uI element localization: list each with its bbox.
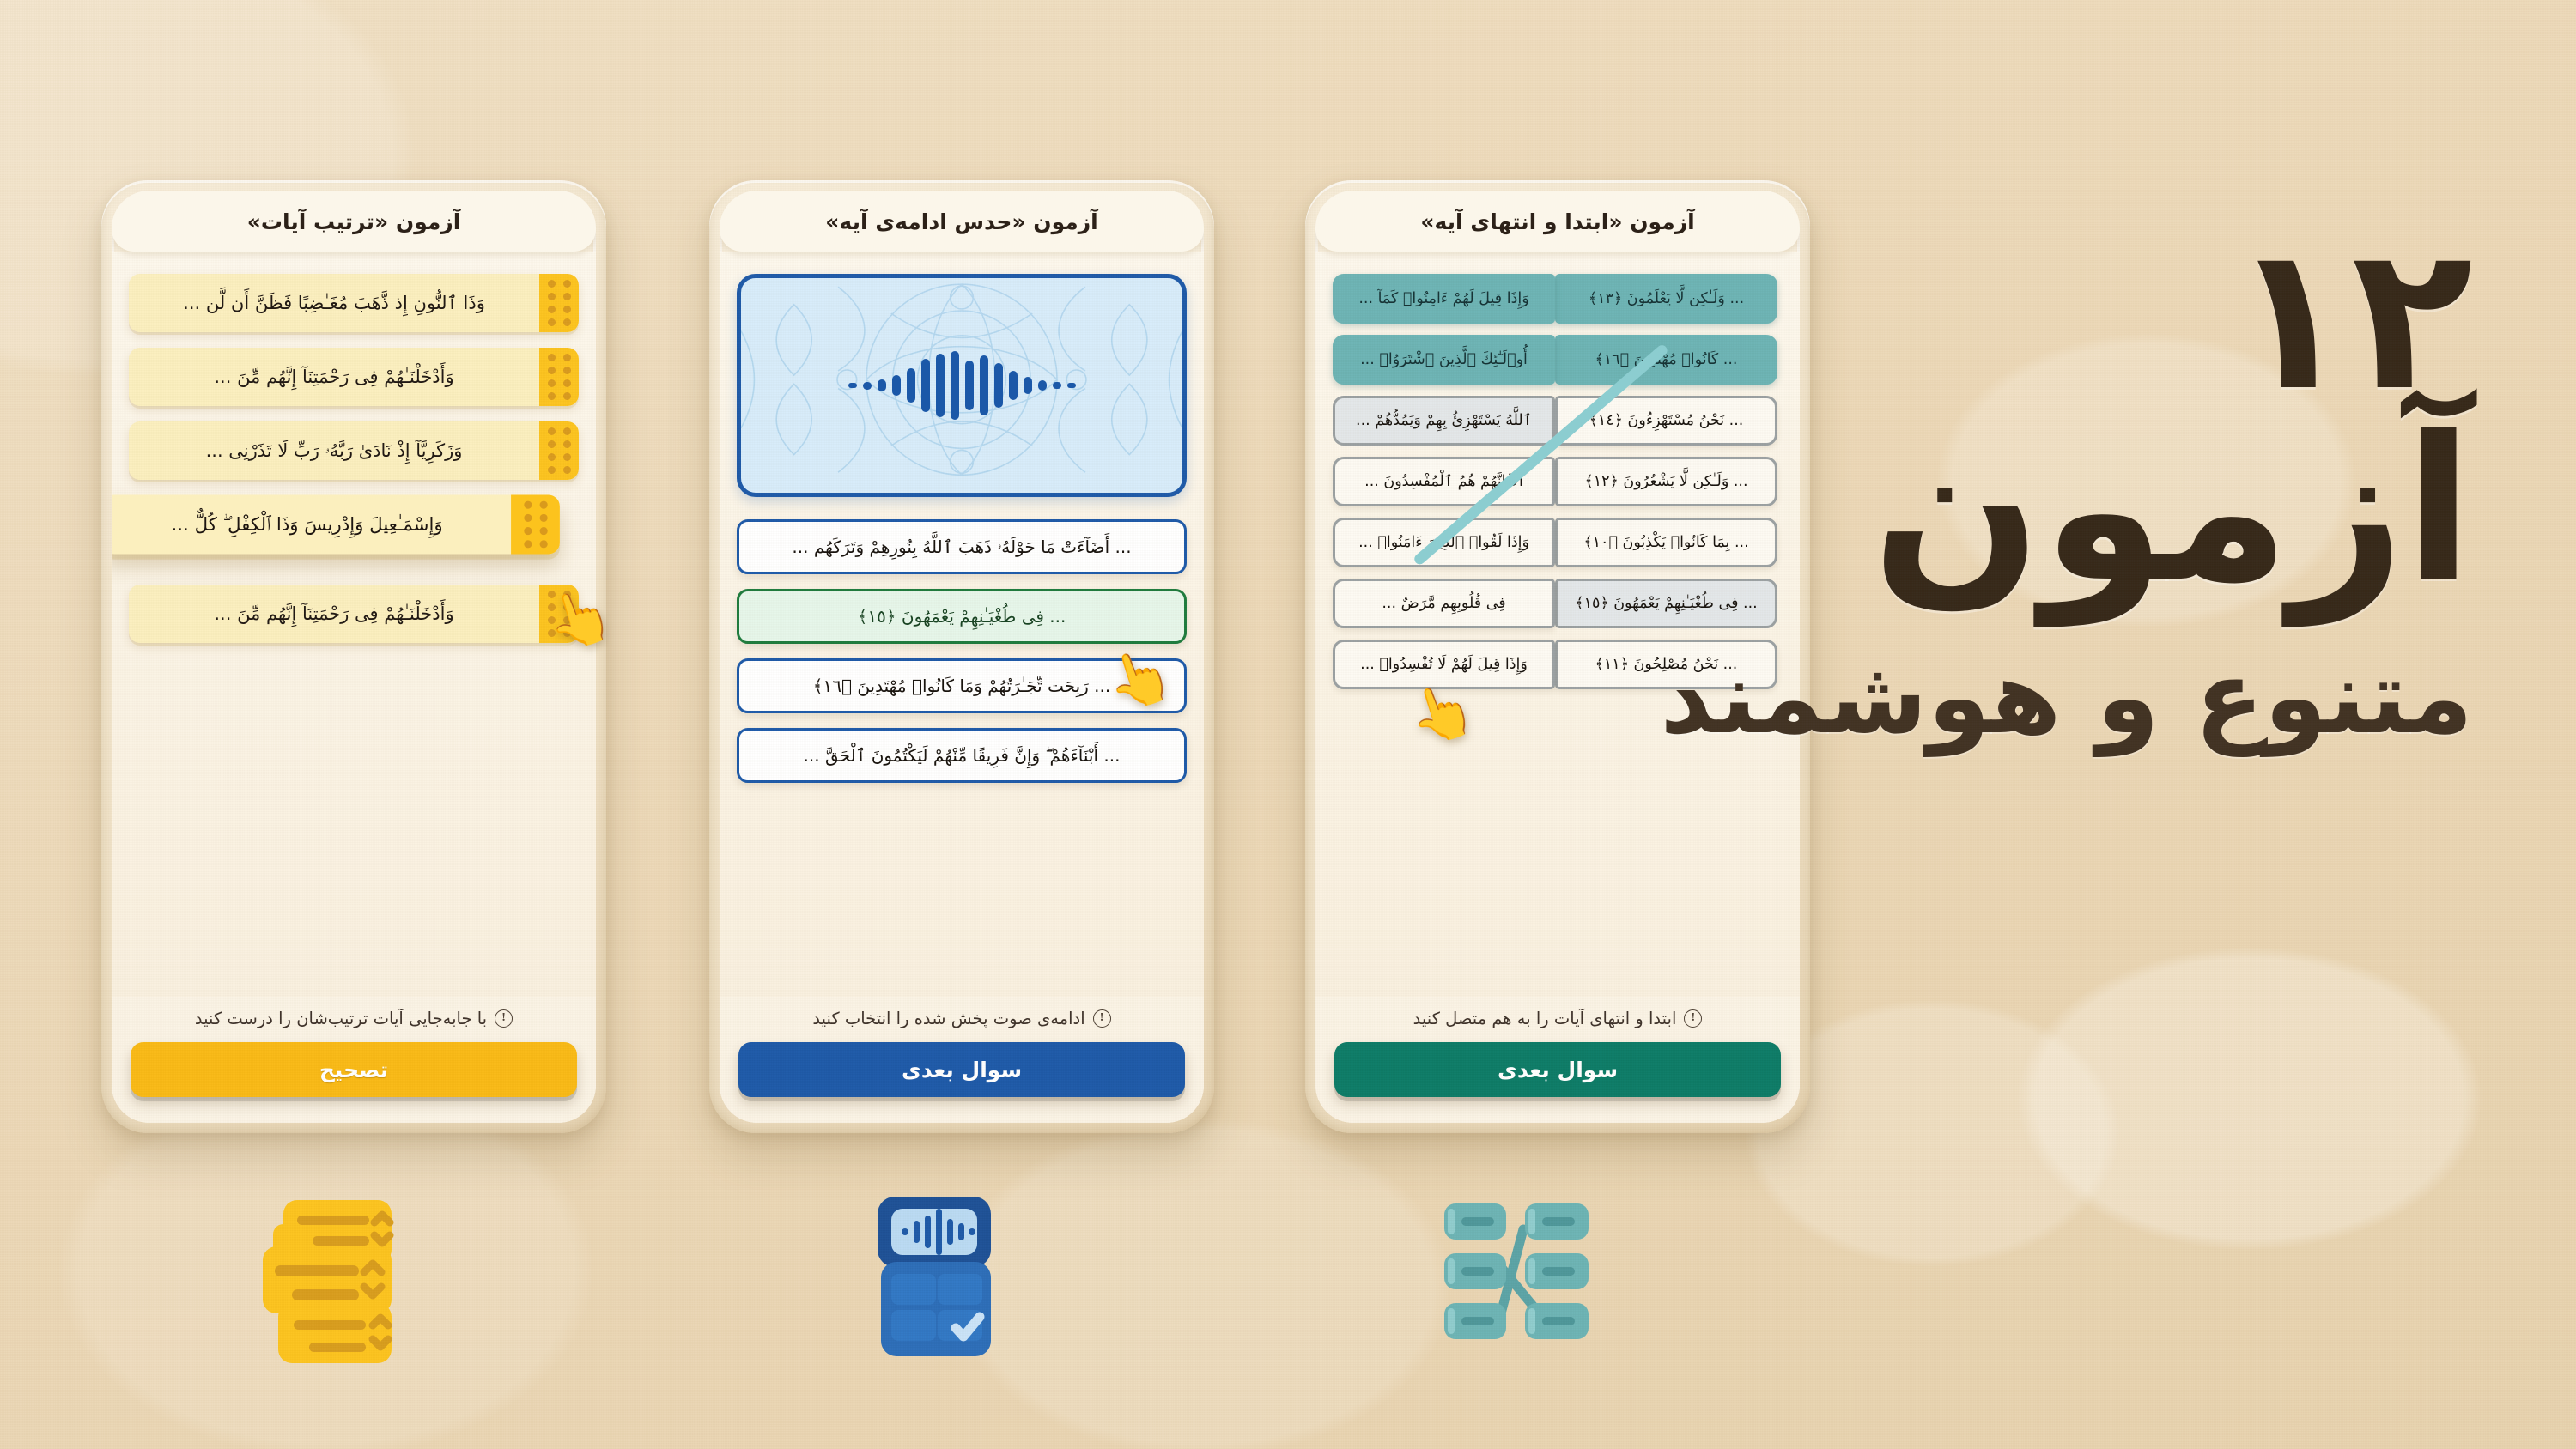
option-text: ... رَبِحَت تِّجَـٰرَتُهُمْ وَمَا كَانُو… [813,676,1110,696]
hint-reorder: ! با جابه‌جایی آیات ترتیب‌شان را درست کن… [131,997,577,1042]
answer-option-selected[interactable]: ... فِى طُغْيَـٰنِهِمْ يَعْمَهُونَ ﴿١٥﴾ [737,589,1187,644]
screen-footer-audio: ! ادامه‌ی صوت پخش شده را انتخاب کنید سوا… [720,997,1204,1123]
drag-handle-icon[interactable] [539,348,579,406]
drop-gap [129,569,579,585]
hint-audio: ! ادامه‌ی صوت پخش شده را انتخاب کنید [738,997,1185,1042]
screen-title-reorder: آزمون «ترتیب آیات» [124,209,584,234]
verse-start-chip[interactable]: وَإِذَا لَقُوا۟ ٱلَّذِينَ ءَامَنُوا۟ ... [1333,518,1555,567]
hint-text: با جابه‌جایی آیات ترتیب‌شان را درست کنید [195,1009,487,1028]
submit-correction-button[interactable]: تصحیح [131,1042,577,1097]
next-question-button-match[interactable]: سوال بعدی [1334,1042,1781,1097]
drag-handle-icon[interactable] [539,274,579,332]
verse-row[interactable]: وَأَدْخَلْنَـٰهُمْ فِى رَحْمَتِنَآ إِنَّ… [129,585,579,643]
verse-text: وَأَدْخَلْنَـٰهُمْ فِى رَحْمَتِنَآ إِنَّ… [129,348,539,406]
verse-text: وَزَكَرِيَّآ إِذْ نَادَىٰ رَبَّهُۥ رَبِّ… [129,421,539,480]
match-pairs-icon [1441,1195,1595,1367]
hint-match: ! ابتدا و انتهای آیات را به هم متصل کنید [1334,997,1781,1042]
verse-start-chip[interactable]: أُو۟لَـٰٓئِكَ ٱلَّذِينَ ٱشْتَرَوُا۟ ... [1333,335,1555,385]
option-text: ... أَضَآءَتْ مَا حَوْلَهُۥ ذَهَبَ ٱللَّ… [792,537,1131,557]
answer-option[interactable]: ... أَضَآءَتْ مَا حَوْلَهُۥ ذَهَبَ ٱللَّ… [737,519,1187,574]
verse-start-chip[interactable]: فِى قُلُوبِهِم مَّرَضٌ ... [1333,579,1555,628]
hint-text: ادامه‌ی صوت پخش شده را انتخاب کنید [812,1009,1084,1028]
audio-question-area: ... أَضَآءَتْ مَا حَوْلَهُۥ ذَهَبَ ٱللَّ… [720,252,1204,997]
verse-row-dragging[interactable]: وَإِسْمَـٰعِيلَ وَإِدْرِيسَ وَذَا ٱلْكِف… [112,494,560,554]
headline-sub: متنوع و هوشمند [1563,638,2473,756]
audio-player-panel[interactable] [737,274,1187,497]
verse-text: وَأَدْخَلْنَـٰهُمْ فِى رَحْمَتِنَآ إِنَّ… [129,585,539,643]
screen-header-reorder: آزمون «ترتیب آیات» [112,191,596,252]
verse-row[interactable]: وَزَكَرِيَّآ إِذْ نَادَىٰ رَبَّهُۥ رَبِّ… [129,421,579,480]
verse-row[interactable]: وَذَا ٱلنُّونِ إِذ ذَّهَبَ مُغَـٰضِبًا ف… [129,274,579,332]
drag-handle-icon[interactable] [511,494,560,554]
audio-waveform-icon [848,347,1076,424]
headline-block: ۱۲ آزمون متنوع و هوشمند [1563,223,2473,756]
verse-reorder-list: وَذَا ٱلنُّونِ إِذ ذَّهَبَ مُغَـٰضِبًا ف… [112,252,596,997]
hint-text: ابتدا و انتهای آیات را به هم متصل کنید [1413,1009,1677,1028]
verse-start-chip[interactable]: وَإِذَا قِيلَ لَهُمْ ءَامِنُوا۟ كَمَآ ..… [1333,274,1555,324]
screen-footer-match: ! ابتدا و انتهای آیات را به هم متصل کنید… [1315,997,1800,1123]
audio-quiz-icon [876,1195,1013,1367]
drag-handle-icon[interactable] [539,421,579,480]
screen-footer-reorder: ! با جابه‌جایی آیات ترتیب‌شان را درست کن… [112,997,596,1123]
option-text: ... أَبْنَآءَهُمْ ۖ وَإِنَّ فَرِيقًا مِّ… [804,745,1121,766]
verse-start-chip[interactable]: أَلَآ إِنَّهُمْ هُمُ ٱلْمُفْسِدُونَ ... [1333,457,1555,506]
verse-text: وَذَا ٱلنُّونِ إِذ ذَّهَبَ مُغَـٰضِبًا ف… [129,274,539,332]
info-icon: ! [1093,1009,1111,1028]
phone-screen-reorder: آزمون «ترتیب آیات» وَذَا ٱلنُّونِ إِذ ذَ… [112,191,596,1123]
phone-mockup-reorder: آزمون «ترتیب آیات» وَذَا ٱلنُّونِ إِذ ذَ… [101,180,606,1133]
option-text: ... فِى طُغْيَـٰنِهِمْ يَعْمَهُونَ ﴿١٥﴾ [858,606,1066,627]
next-question-button-audio[interactable]: سوال بعدی [738,1042,1185,1097]
info-icon: ! [495,1009,513,1028]
verse-text: وَإِسْمَـٰعِيلَ وَإِدْرِيسَ وَذَا ٱلْكِف… [112,494,511,554]
verse-row[interactable]: وَأَدْخَلْنَـٰهُمْ فِى رَحْمَتِنَآ إِنَّ… [129,348,579,406]
screen-header-match: آزمون «ابتدا و انتهای آیه» [1315,191,1800,252]
screen-header-audio: آزمون «حدس ادامه‌ی آیه» [720,191,1204,252]
reorder-list-icon [247,1195,410,1367]
screen-title-audio: آزمون «حدس ادامه‌ی آیه» [732,209,1192,234]
screen-title-match: آزمون «ابتدا و انتهای آیه» [1327,209,1788,234]
verse-start-chip[interactable]: ٱللَّهُ يَسْتَهْزِئُ بِهِمْ وَيَمُدُّهُم… [1333,396,1555,446]
poster-canvas: آزمون «ترتیب آیات» وَذَا ٱلنُّونِ إِذ ذَ… [0,0,2576,1449]
answer-option[interactable]: ... أَبْنَآءَهُمْ ۖ وَإِنَّ فَرِيقًا مِّ… [737,728,1187,783]
headline-main: ۱۲ آزمون [1563,223,2473,605]
info-icon: ! [1684,1009,1702,1028]
